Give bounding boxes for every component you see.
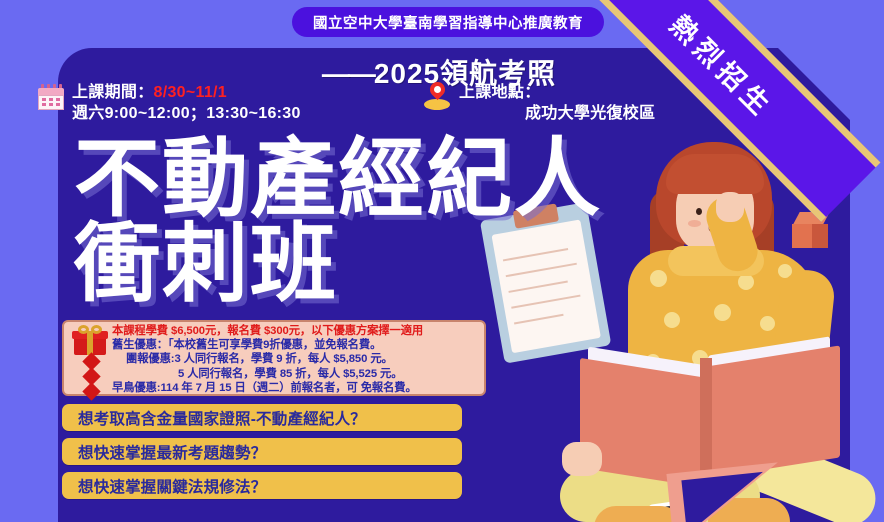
book-spine (700, 358, 712, 470)
triangle-ruler-icon (670, 468, 790, 522)
cube-icon (792, 212, 834, 254)
question-bar-1-label: 想考取高含金量國家證照-不動產經紀人？ (62, 407, 366, 429)
title-line-2: 衝刺班 (74, 223, 602, 306)
book-cover-right (706, 345, 840, 478)
poster-root: 國立空中大學臺南學習指導中心推廣教育 ——2025領航考照 上課期間：8/30~… (0, 0, 884, 522)
location-value: 成功大學光復校區 (525, 103, 655, 124)
location-label: 上課地點： (459, 82, 655, 103)
pricing-line: 舊生優惠：「本校舊生可享學費9折優惠，並免報名費。 (112, 338, 480, 352)
schedule-block: 上課期間：8/30~11/1 週六9:00~12:00；13:30~16:30 (38, 82, 423, 136)
schedule-time: 週六9:00~12:00；13:30~16:30 (72, 103, 301, 124)
page-title: 不動產經紀人 衝刺班 (74, 138, 602, 305)
diamond-bullet (82, 382, 100, 400)
question-bar-3[interactable]: 想快速掌握關鍵法規修法？ (62, 472, 462, 499)
question-bar-2-label: 想快速掌握最新考題趨勢？ (62, 441, 266, 463)
location-block: 上課地點： 成功大學光復校區 (423, 82, 655, 136)
question-bar-3-label: 想快速掌握關鍵法規修法？ (62, 475, 266, 497)
organization-pill: 國立空中大學臺南學習指導中心推廣教育 (292, 7, 604, 37)
hair-fringe (666, 154, 764, 194)
map-pin-icon (423, 82, 451, 112)
pricing-line: 本課程學費 $6,500元，報名費 $300元，以下優惠方案擇一適用 (112, 324, 480, 338)
bullet-diamonds (80, 354, 102, 400)
organization-name: 國立空中大學臺南學習指導中心推廣教育 (313, 12, 583, 33)
pricing-line: 團報優惠:3 人同行報名，學費 9 折，每人 $5,850 元。 (126, 352, 480, 366)
question-bar-1[interactable]: 想考取高含金量國家證照-不動產經紀人？ (62, 404, 462, 431)
pricing-box: 本課程學費 $6,500元，報名費 $300元，以下優惠方案擇一適用 舊生優惠：… (62, 320, 486, 396)
schedule-period-label: 上課期間： (72, 84, 154, 101)
blush-left (688, 220, 701, 227)
schedule-period-value: 8/30~11/1 (154, 84, 227, 101)
schedule-period: 上課期間：8/30~11/1 (72, 82, 301, 103)
question-bars: 想考取高含金量國家證照-不動產經紀人？ 想快速掌握最新考題趨勢？ 想快速掌握關鍵… (62, 404, 462, 506)
question-bar-2[interactable]: 想快速掌握最新考題趨勢？ (62, 438, 462, 465)
pricing-lines: 本課程學費 $6,500元，報名費 $300元，以下優惠方案擇一適用 舊生優惠：… (112, 324, 480, 395)
title-line-1: 不動產經紀人 (74, 138, 602, 221)
schedule-lines: 上課期間：8/30~11/1 週六9:00~12:00；13:30~16:30 (72, 82, 301, 124)
pricing-line: 5 人同行報名，學費 85 折，每人 $5,525 元。 (178, 367, 480, 381)
pricing-line: 早鳥優惠:114 年 7 月 15 日（週二）前報名者，可 免報名費。 (112, 381, 480, 395)
hand-holding-book (562, 442, 602, 476)
eye-left (696, 208, 702, 215)
gift-icon (72, 325, 108, 355)
hand-on-cheek (716, 192, 744, 222)
calendar-icon (38, 84, 64, 110)
location-lines: 上課地點： 成功大學光復校區 (459, 82, 655, 124)
